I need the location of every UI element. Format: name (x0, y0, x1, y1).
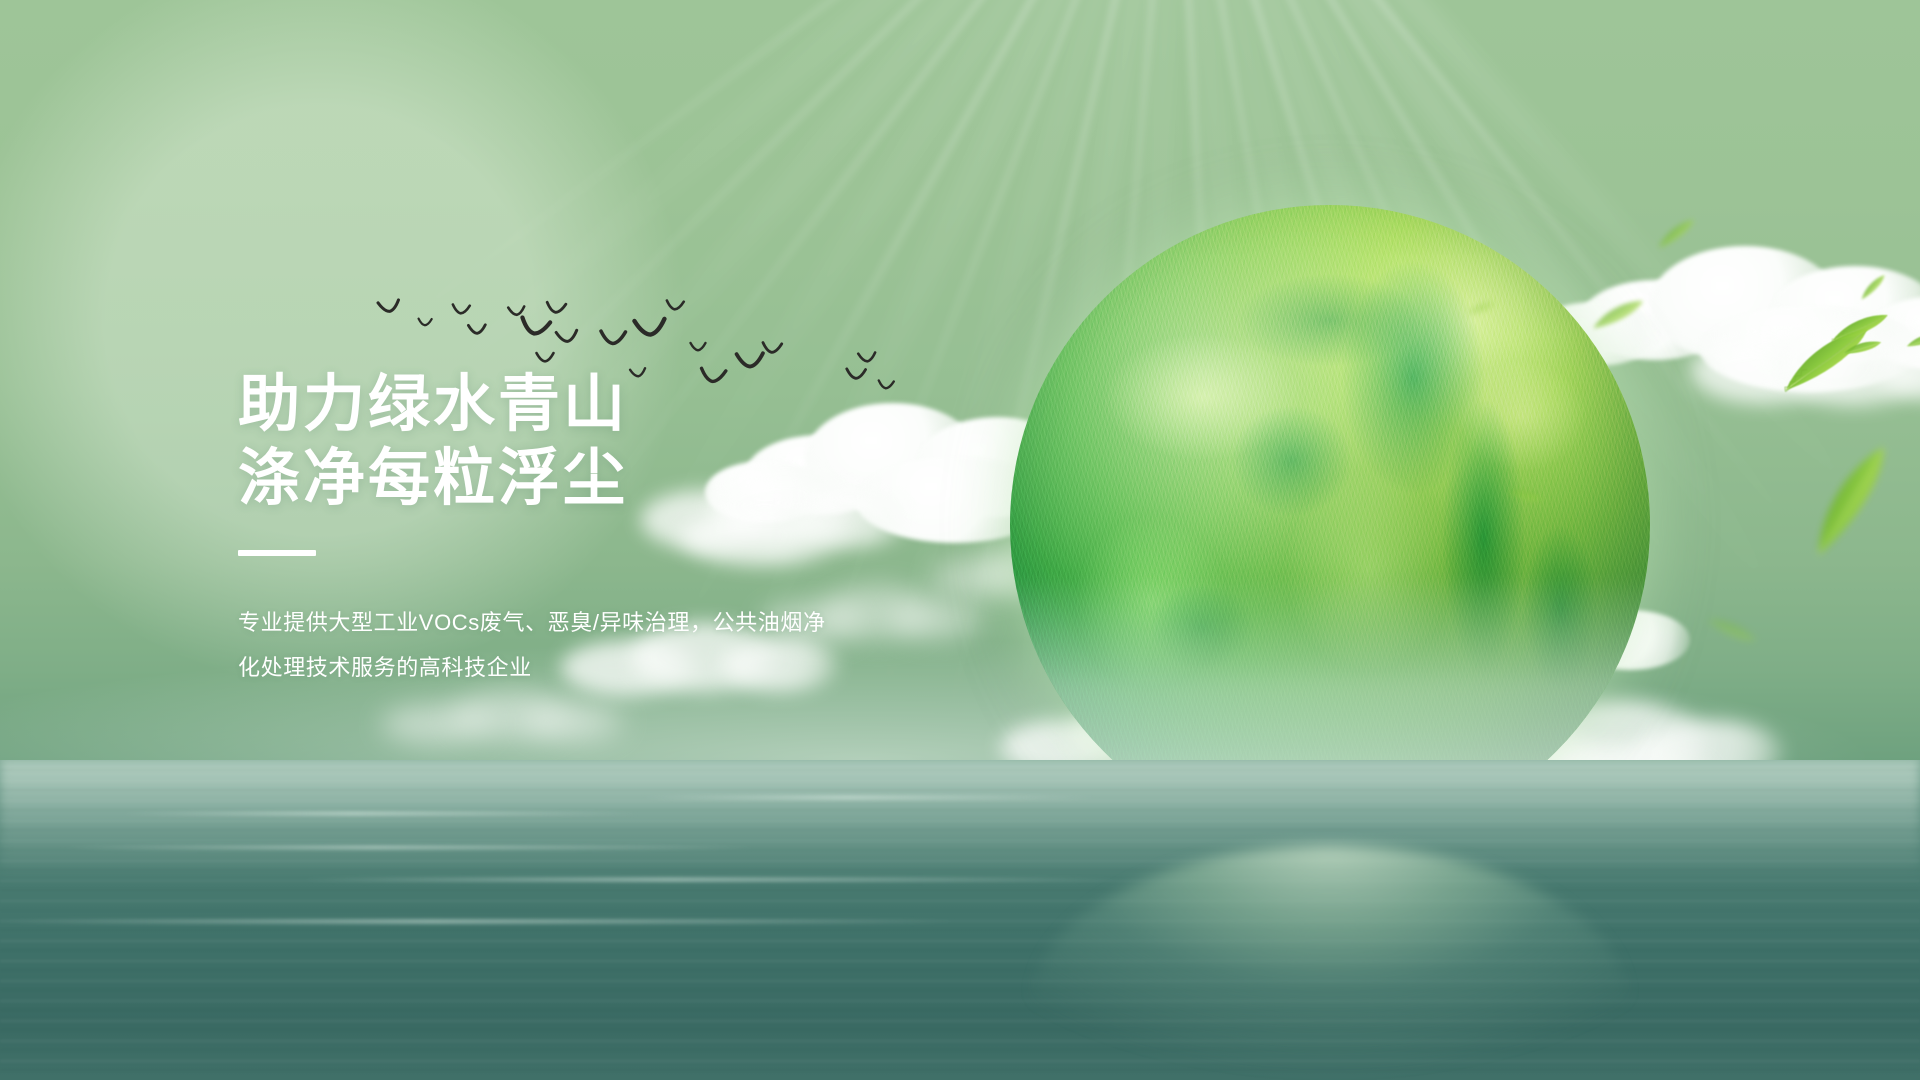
page-title: 助力绿水青山 涤净每粒浮尘 (238, 368, 998, 516)
description-line-2: 化处理技术服务的高科技企业 (238, 645, 918, 690)
leaf-icon (1650, 211, 1700, 252)
bird-icon (762, 341, 783, 355)
bird-icon (468, 324, 486, 336)
bird-icon (600, 330, 627, 347)
grass-earth-globe (1010, 205, 1650, 845)
description-line-1: 专业提供大型工业VOCs废气、恶臭/异味治理，公共油烟净 (238, 600, 918, 645)
globe-sphere (1010, 205, 1650, 845)
bird-icon (690, 342, 706, 352)
water-streak (300, 878, 1120, 881)
banner-copy: 助力绿水青山 涤净每粒浮尘 专业提供大型工业VOCs废气、恶臭/异味治理，公共油… (238, 368, 998, 690)
bird-icon (858, 351, 877, 363)
leaf-icon (1904, 326, 1920, 350)
banner-stage: 助力绿水青山 涤净每粒浮尘 专业提供大型工业VOCs废气、恶臭/异味治理，公共油… (0, 0, 1920, 1080)
divider-rule (238, 550, 316, 556)
headline-line-1: 助力绿水青山 (238, 368, 998, 442)
leaf-icon (1704, 604, 1763, 652)
water-streak (0, 920, 960, 923)
bird-icon (418, 318, 432, 327)
bird-icon (555, 329, 578, 345)
bird-icon (633, 317, 666, 339)
bird-icon (452, 303, 471, 315)
water-streak (60, 846, 760, 849)
bird-icon (536, 352, 554, 363)
banner-description: 专业提供大型工业VOCs废气、恶臭/异味治理，公共油烟净 化处理技术服务的高科技… (238, 600, 918, 690)
water-streak (120, 812, 640, 815)
leaf-icon (1854, 269, 1890, 303)
leaf-icon (1826, 303, 1893, 347)
water-streak (640, 796, 1100, 799)
bird-icon (519, 316, 552, 340)
bird-icon (377, 299, 401, 316)
bird-icon (508, 305, 526, 317)
leaf-icon (1767, 309, 1880, 401)
bird-icon (545, 301, 566, 315)
leaf-icon (1841, 335, 1883, 358)
bird-icon (666, 299, 685, 311)
leaf-icon (1777, 424, 1914, 570)
headline-line-2: 涤净每粒浮尘 (238, 442, 998, 516)
water-surface (0, 760, 1920, 1080)
